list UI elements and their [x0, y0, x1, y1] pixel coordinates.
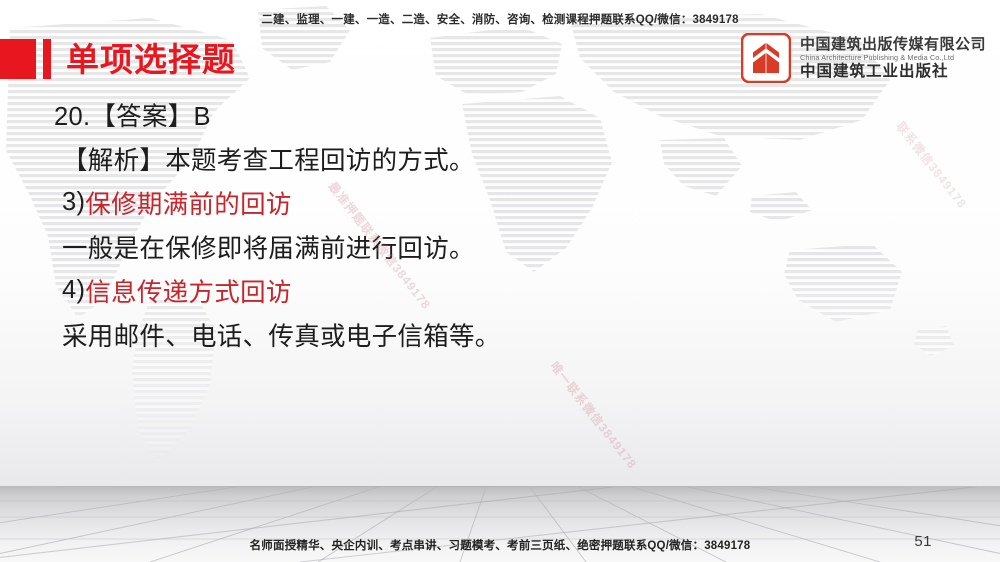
item-3-heading: 3)保修期满前的回访: [54, 180, 934, 224]
footer-contact-banner: 名师面授精华、央企内训、考点串讲、习题模考、考前三页纸、绝密押题联系QQ/微信：…: [0, 537, 1000, 553]
title-accent-bar: [43, 39, 51, 79]
item-4-body: 采用邮件、电话、传真或电子信箱等。: [54, 312, 934, 356]
text-segment: 保修期满前的回访: [85, 184, 291, 221]
item-3-body: 一般是在保修即将届满前进行回访。: [54, 224, 934, 268]
title-accent-block: [0, 39, 36, 79]
logo-company-cn: 中国建筑出版传媒有限公司: [800, 37, 986, 53]
logo-press-cn: 中国建筑工业出版社: [800, 63, 986, 79]
answer-line: 20.【答案】B: [54, 92, 934, 136]
text-segment: 信息传递方式回访: [85, 272, 291, 309]
slide-body: 20.【答案】B【解析】本题考查工程回访的方式。3)保修期满前的回访一般是在保修…: [54, 92, 934, 356]
item-4-heading: 4)信息传递方式回访: [54, 268, 934, 312]
analysis-line: 【解析】本题考查工程回访的方式。: [54, 136, 934, 180]
text-segment: 3): [62, 188, 85, 217]
page-title: 单项选择题: [66, 43, 236, 76]
text-segment: 4): [62, 276, 85, 305]
publisher-logo: 中国建筑出版传媒有限公司 China Architecture Publishi…: [741, 33, 986, 83]
text-segment: 【解析】本题考查工程回访的方式。: [62, 140, 475, 177]
slide-title-row: 单项选择题: [0, 36, 236, 82]
publisher-logo-text: 中国建筑出版传媒有限公司 China Architecture Publishi…: [800, 37, 986, 79]
book-logo-icon: [741, 33, 791, 83]
page-number: 51: [914, 533, 932, 550]
header-contact-banner: 二建、监理、一建、一造、二造、安全、消防、咨询、检测课程押题联系QQ/微信：38…: [0, 11, 1000, 27]
text-segment: 20.【答案】B: [54, 96, 211, 133]
text-segment: 采用邮件、电话、传真或电子信箱等。: [62, 316, 501, 353]
slide-canvas: 二建、监理、一建、一造、二造、安全、消防、咨询、检测课程押题联系QQ/微信：38…: [0, 0, 1000, 562]
text-segment: 一般是在保修即将届满前进行回访。: [62, 228, 475, 265]
